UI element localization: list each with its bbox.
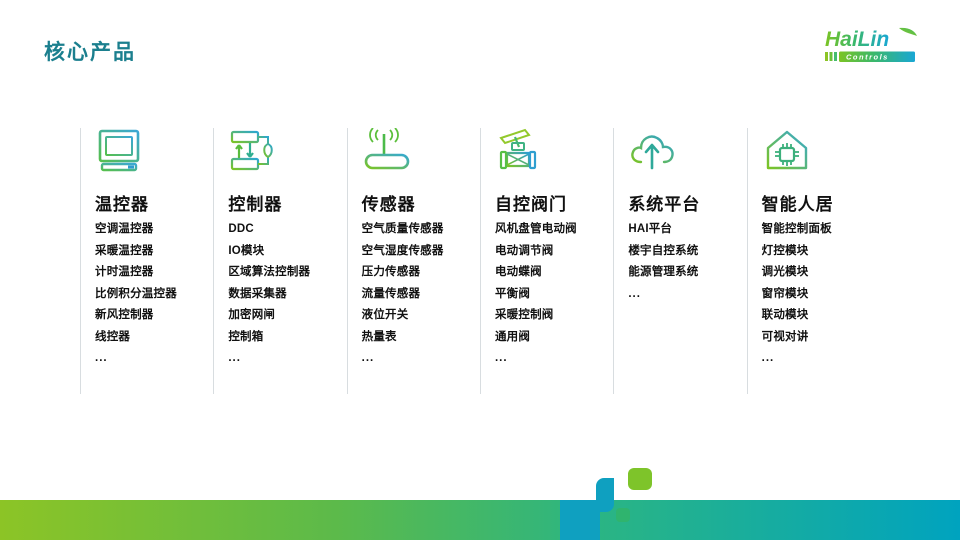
column-item[interactable]: 液位开关 bbox=[362, 310, 480, 322]
page-title: 核心产品 bbox=[44, 36, 136, 66]
product-column-thermostat[interactable]: 温控器 空调温控器 采暖温控器 计时温控器 比例积分温控器 新风控制器 线控器 … bbox=[80, 128, 213, 394]
column-item[interactable]: 控制箱 bbox=[228, 332, 346, 344]
column-item[interactable]: 加密网闸 bbox=[228, 310, 346, 322]
column-title: 自控阀门 bbox=[495, 190, 613, 215]
column-item[interactable]: 线控器 bbox=[95, 332, 213, 344]
smart-home-chip-icon bbox=[762, 128, 812, 174]
hailin-logo: HaiLin Controls bbox=[824, 24, 934, 68]
column-more-indicator: ... bbox=[228, 353, 346, 365]
product-column-controller[interactable]: 控制器 DDC IO模块 区域算法控制器 数据采集器 加密网闸 控制箱 ... bbox=[213, 128, 346, 394]
column-more-indicator: ... bbox=[762, 353, 880, 365]
product-column-platform[interactable]: 系统平台 HAI平台 楼宇自控系统 能源管理系统 ... bbox=[613, 128, 746, 394]
column-item[interactable]: 智能控制面板 bbox=[762, 224, 880, 236]
column-item[interactable]: 流量传感器 bbox=[362, 289, 480, 301]
column-more-indicator: ... bbox=[628, 289, 746, 301]
column-item[interactable]: 平衡阀 bbox=[495, 289, 613, 301]
column-item[interactable]: 电动调节阀 bbox=[495, 246, 613, 258]
product-column-sensor[interactable]: 传感器 空气质量传感器 空气湿度传感器 压力传感器 流量传感器 液位开关 热量表… bbox=[347, 128, 480, 394]
column-item[interactable]: 空调温控器 bbox=[95, 224, 213, 236]
column-item[interactable]: 通用阀 bbox=[495, 332, 613, 344]
column-item[interactable]: 计时温控器 bbox=[95, 267, 213, 279]
column-title: 温控器 bbox=[95, 190, 213, 215]
wireless-sensor-icon bbox=[362, 128, 412, 174]
control-valve-icon bbox=[495, 128, 545, 174]
column-item[interactable]: 风机盘管电动阀 bbox=[495, 224, 613, 236]
column-more-indicator: ... bbox=[495, 353, 613, 365]
column-item[interactable]: 新风控制器 bbox=[95, 310, 213, 322]
column-title: 传感器 bbox=[362, 190, 480, 215]
column-item[interactable]: 灯控模块 bbox=[762, 246, 880, 258]
column-item[interactable]: 窗帘模块 bbox=[762, 289, 880, 301]
column-item[interactable]: 数据采集器 bbox=[228, 289, 346, 301]
column-item[interactable]: 采暖控制阀 bbox=[495, 310, 613, 322]
column-item[interactable]: IO模块 bbox=[228, 246, 346, 258]
column-item[interactable]: 调光模块 bbox=[762, 267, 880, 279]
svg-text:HaiLin: HaiLin bbox=[825, 28, 889, 51]
column-more-indicator: ... bbox=[362, 353, 480, 365]
column-more-indicator: ... bbox=[95, 353, 213, 365]
svg-text:Controls: Controls bbox=[846, 53, 889, 62]
column-item[interactable]: HAI平台 bbox=[628, 224, 746, 236]
column-item[interactable]: 空气湿度传感器 bbox=[362, 246, 480, 258]
product-columns: 温控器 空调温控器 采暖温控器 计时温控器 比例积分温控器 新风控制器 线控器 … bbox=[80, 128, 880, 394]
slide-root: 核心产品 HaiLin Controls bbox=[0, 0, 960, 540]
cloud-upload-icon bbox=[628, 128, 678, 174]
column-item[interactable]: DDC bbox=[228, 224, 346, 236]
column-title: 控制器 bbox=[228, 190, 346, 215]
column-item[interactable]: 电动蝶阀 bbox=[495, 267, 613, 279]
column-item[interactable]: 可视对讲 bbox=[762, 332, 880, 344]
product-column-smart-home[interactable]: 智能人居 智能控制面板 灯控模块 调光模块 窗帘模块 联动模块 可视对讲 ... bbox=[747, 128, 880, 394]
column-item[interactable]: 区域算法控制器 bbox=[228, 267, 346, 279]
column-title: 智能人居 bbox=[762, 190, 880, 215]
column-title: 系统平台 bbox=[628, 190, 746, 215]
monitor-thermostat-icon bbox=[95, 128, 145, 174]
column-item[interactable]: 采暖温控器 bbox=[95, 246, 213, 258]
product-column-valve[interactable]: 自控阀门 风机盘管电动阀 电动调节阀 电动蝶阀 平衡阀 采暖控制阀 通用阀 ..… bbox=[480, 128, 613, 394]
footer-gradient-bar bbox=[0, 500, 960, 540]
column-item[interactable]: 联动模块 bbox=[762, 310, 880, 322]
column-item[interactable]: 楼宇自控系统 bbox=[628, 246, 746, 258]
footer-decoration-shapes bbox=[560, 462, 760, 540]
column-item[interactable]: 压力传感器 bbox=[362, 267, 480, 279]
controller-rack-icon bbox=[228, 128, 278, 174]
column-item[interactable]: 空气质量传感器 bbox=[362, 224, 480, 236]
column-item[interactable]: 比例积分温控器 bbox=[95, 289, 213, 301]
column-item[interactable]: 能源管理系统 bbox=[628, 267, 746, 279]
column-item[interactable]: 热量表 bbox=[362, 332, 480, 344]
